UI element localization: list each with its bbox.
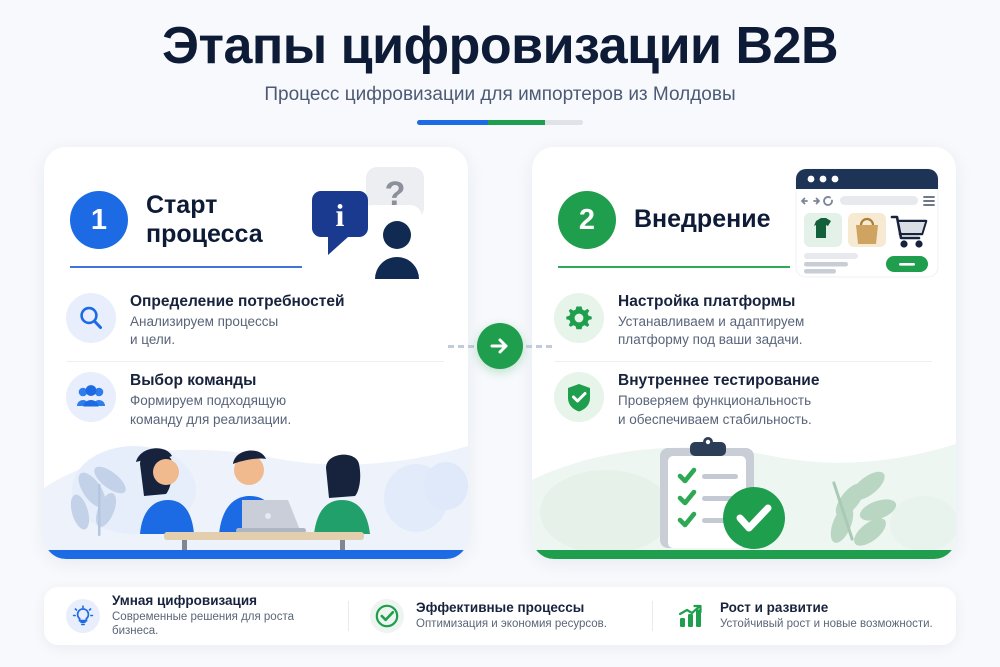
progress-segment-remaining: [545, 120, 583, 125]
list-item-desc: Проверяем функциональность и обеспечивае…: [618, 392, 819, 428]
benefit-desc: Оптимизация и экономия ресурсов.: [416, 618, 607, 632]
search-icon: [66, 293, 116, 343]
list-item[interactable]: Выбор команды Формируем подходящую коман…: [66, 361, 444, 440]
page-header: Этапы цифровизации B2B Процесс цифровиза…: [0, 0, 1000, 125]
team-meeting-illustration: [44, 428, 468, 550]
list-item[interactable]: Внутреннее тестирование Проверяем функци…: [554, 361, 932, 440]
list-item-title: Определение потребностей: [130, 293, 345, 311]
list-item-desc: Формируем подходящую команду для реализа…: [130, 392, 291, 428]
stage-card-1[interactable]: 1 Старт процесса ? i: [44, 147, 468, 559]
benefit-title: Умная цифровизация: [112, 593, 332, 609]
stage-items-1: Определение потребностей Анализируем про…: [44, 265, 468, 441]
growth-chart-icon: [674, 599, 708, 633]
lightbulb-icon: [66, 599, 100, 633]
people-group-icon: [66, 372, 116, 422]
list-item-title: Выбор команды: [130, 372, 291, 390]
benefit-title: Эффективные процессы: [416, 600, 607, 616]
stage-title-1: Старт процесса: [146, 191, 263, 250]
benefit-desc: Устойчивый рост и новые возможности.: [720, 618, 933, 632]
svg-text:i: i: [336, 197, 345, 233]
progress-bar: [417, 120, 583, 125]
list-item-desc: Устанавливаем и адаптируем платформу под…: [618, 313, 804, 349]
page-subtitle: Процесс цифровизации для импортеров из М…: [0, 84, 1000, 106]
list-item-title: Внутреннее тестирование: [618, 372, 819, 390]
list-item[interactable]: Определение потребностей Анализируем про…: [66, 283, 444, 361]
stage-card-2-accent-bar: [532, 550, 956, 559]
list-item-desc: Анализируем процессы и цели.: [130, 313, 345, 349]
stage-number-badge-2: 2: [558, 191, 616, 249]
benefit-desc: Современные решения для роста бизнеса.: [112, 611, 332, 639]
benefit-item-effective-processes[interactable]: Эффективные процессы Оптимизация и эконо…: [348, 587, 652, 645]
stage-card-1-header: 1 Старт процесса ? i: [44, 147, 468, 265]
stage-items-2: Настройка платформы Устанавливаем и адап…: [532, 265, 956, 441]
page-title: Этапы цифровизации B2B: [0, 18, 1000, 74]
gear-icon: [554, 293, 604, 343]
progress-segment-blue: [417, 120, 488, 125]
stage-card-1-accent-bar: [44, 550, 468, 559]
clipboard-checklist-illustration: [532, 428, 956, 550]
stage-cards: 1 Старт процесса ? i: [44, 147, 956, 559]
list-item-title: Настройка платформы: [618, 293, 804, 311]
shield-check-icon: [554, 372, 604, 422]
stage-card-2[interactable]: 2 Внедрение: [532, 147, 956, 559]
stage-number-badge-1: 1: [70, 191, 128, 249]
benefit-item-growth[interactable]: Рост и развитие Устойчивый рост и новые …: [652, 587, 956, 645]
check-circle-icon: [370, 599, 404, 633]
stage-card-2-header: 2 Внедрение: [532, 147, 956, 265]
stage-title-2: Внедрение: [634, 205, 770, 235]
list-item[interactable]: Настройка платформы Устанавливаем и адап…: [554, 283, 932, 361]
benefits-bar: Умная цифровизация Современные решения д…: [44, 587, 956, 645]
benefit-item-smart-digitalization[interactable]: Умная цифровизация Современные решения д…: [44, 587, 348, 645]
benefit-title: Рост и развитие: [720, 600, 933, 616]
progress-segment-green: [488, 120, 544, 125]
